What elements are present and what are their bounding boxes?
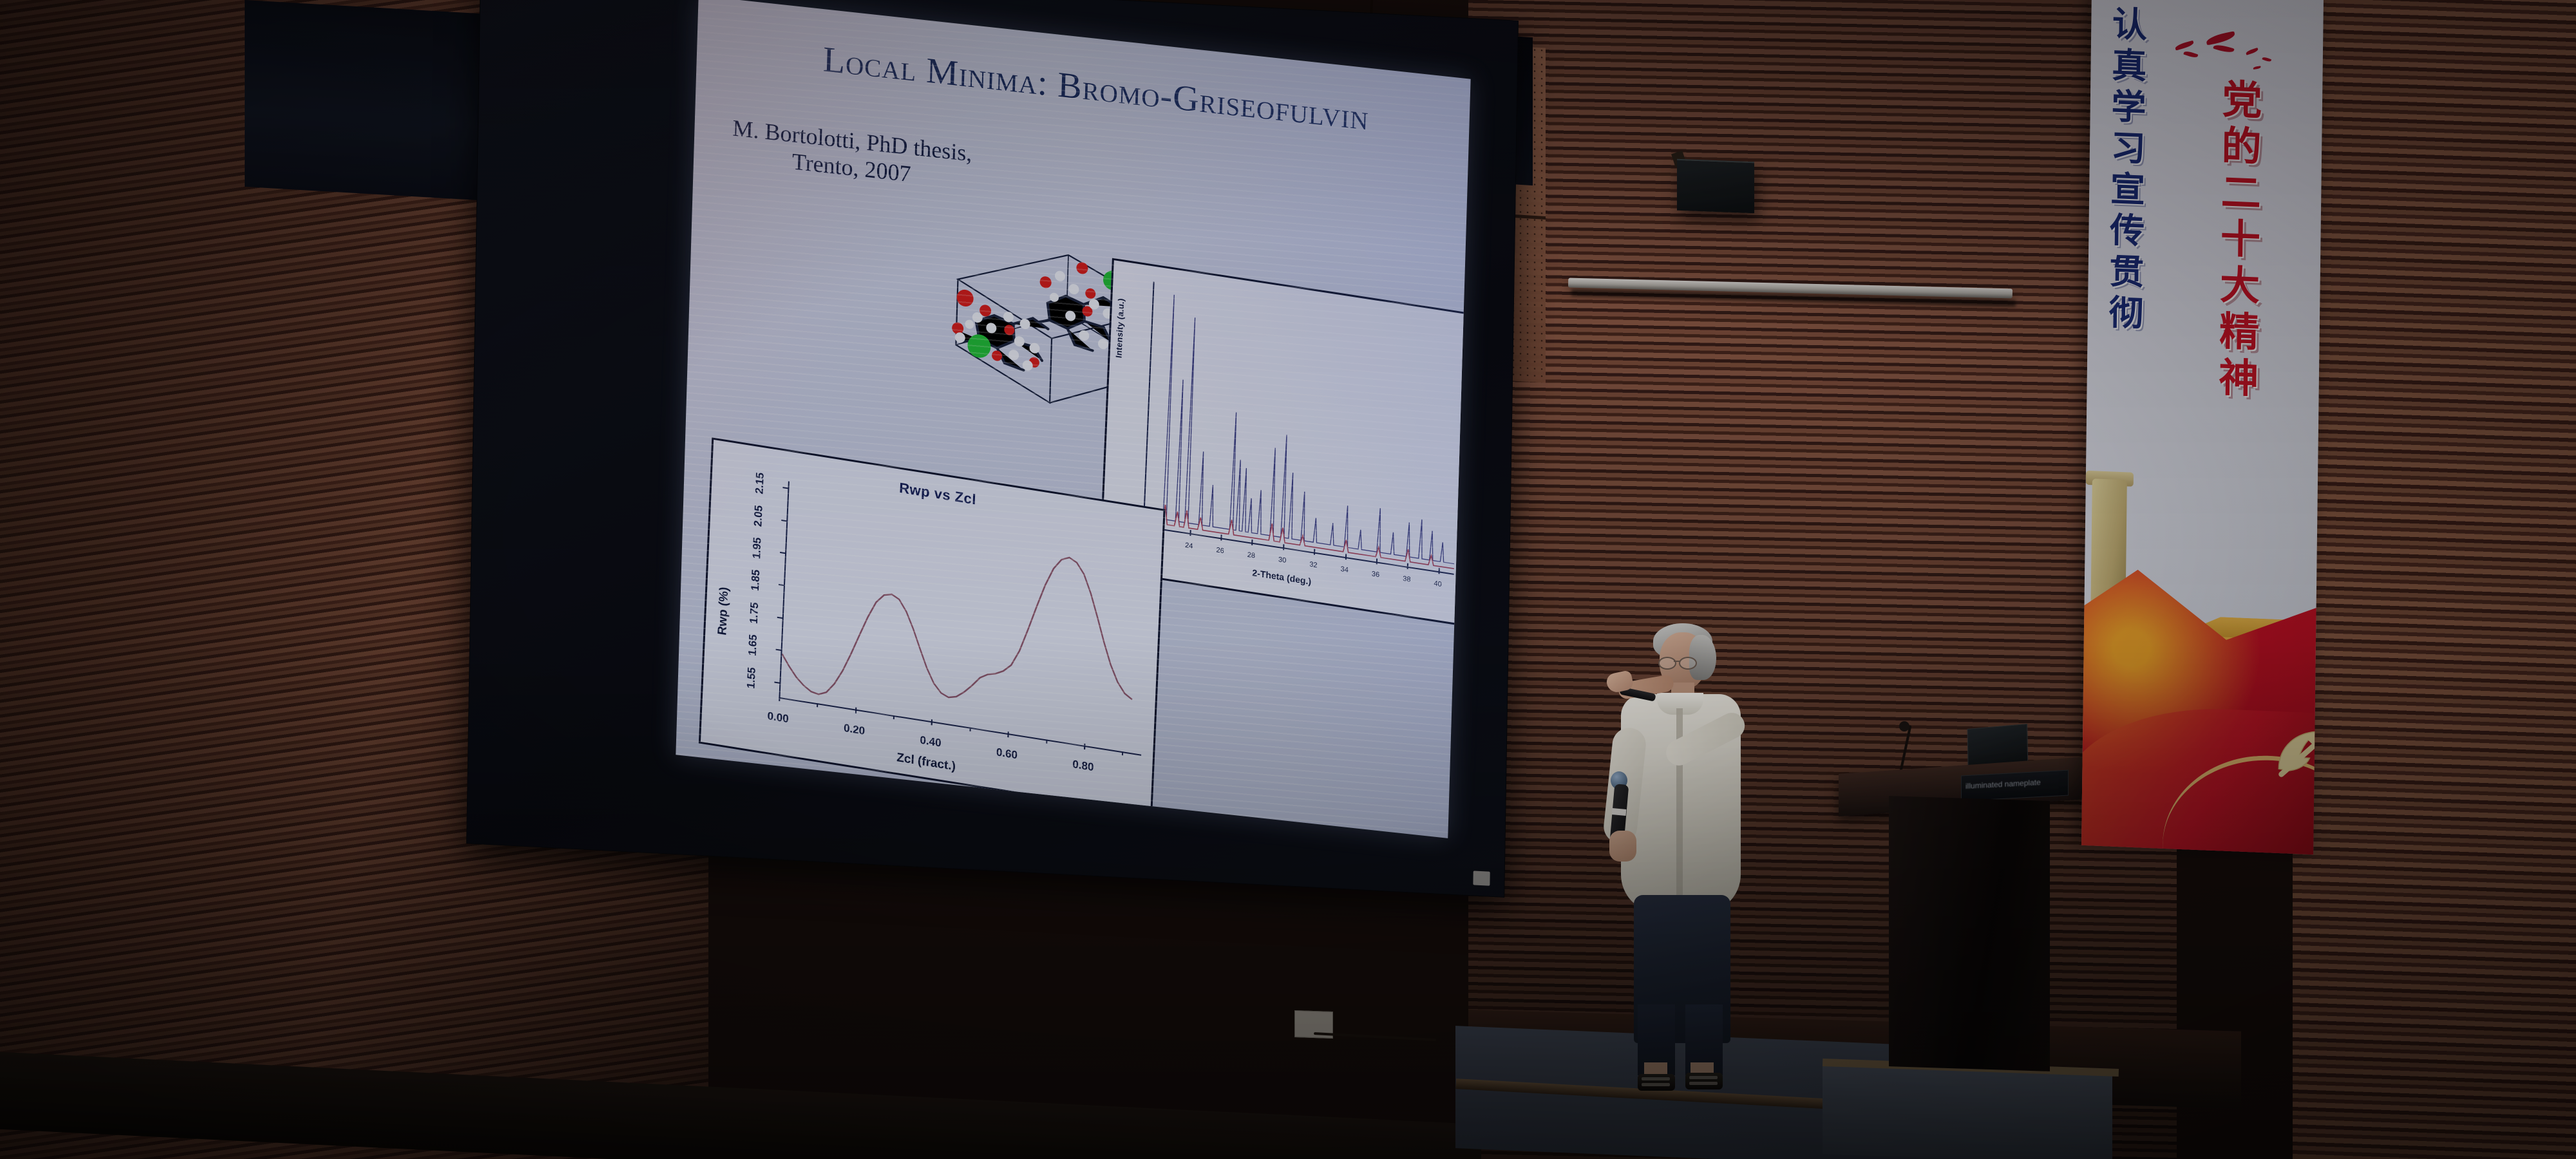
microphone-head-icon [1899,721,1909,731]
projected-slide: Local Minima: Bromo-Griseofulvin M. Bort… [676,0,1470,838]
wall-speaker [1677,159,1754,214]
sandal-strap [1689,1082,1718,1085]
hydrogen-atom [1055,270,1065,282]
lectern-body [1889,796,2050,1071]
lecture-hall-scene: Local Minima: Bromo-Griseofulvin M. Bort… [0,0,2576,1159]
presenter-glasses [1658,657,1700,667]
rwp-x-minor-tick [1084,746,1085,749]
xrd-x-tick-mark [1314,549,1315,555]
oxygen-atom [1085,288,1095,299]
xrd-x-tick-label: 32 [1309,561,1318,570]
rwp-x-minor-tick [893,715,895,719]
presenter [1581,618,1774,1088]
rwp-y-tick-mark [780,552,786,554]
sandal-strap [1642,1077,1670,1080]
rwp-y-tick-label: 2.15 [753,472,766,495]
rwp-x-tick-label: 0.00 [767,710,789,726]
rwp-x-tick-label: 0.40 [920,734,942,750]
stage-step [1823,1064,2112,1159]
rwp-y-tick-mark [774,681,780,683]
rwp-x-minor-tick [931,721,933,725]
dove-icon [2183,50,2198,59]
rwp-y-axis-label: Rwp (%) [715,586,732,636]
rwp-y-tick-mark [777,617,783,619]
presenter-right-sandal [1685,1073,1723,1089]
lectern: illuminated nameplate [1832,708,2103,1069]
rwp-vs-zcl-plot: Rwp vs Zcl Rwp (%) 1.551.651.751.851.952… [699,437,1166,815]
xrd-x-tick-label: 38 [1403,575,1411,584]
xrd-y-axis-label: Intensity (a.u.) [1113,241,1128,359]
microphone-band [1612,808,1627,816]
sandal-strap [1689,1076,1718,1079]
glasses-lens-left [1658,657,1676,670]
hydrogen-atom [1068,283,1079,295]
rwp-y-tick-mark [779,584,784,586]
rwp-x-minor-tick [817,703,818,707]
rwp-y-tick-label: 1.65 [746,634,760,657]
rwp-x-tick-mark [779,695,780,701]
dove-icon [2262,56,2271,62]
screen-brand-logo [1473,871,1490,885]
propaganda-banner: 认真学习宣传贯彻 党的二十大精神 [2081,0,2324,854]
rwp-y-tick-label: 1.75 [748,601,761,625]
rwp-x-minor-tick [1046,739,1047,743]
banner-red-text: 党的二十大精神 [2213,78,2259,404]
presenter-mic-hand [1609,831,1636,862]
xrd-x-tick-mark [1189,530,1191,536]
dove-icon [2174,41,2194,51]
presenter-left-sandal [1638,1074,1675,1091]
xrd-x-tick-mark [1407,563,1408,569]
rwp-y-tick-label: 1.55 [744,666,758,690]
xrd-series-svg [1144,282,1464,574]
xrd-x-tick-mark [1438,568,1439,574]
far-right-slat-wall [2293,0,2576,1159]
rwp-y-tick-mark [781,520,787,522]
rwp-y-tick-label: 1.85 [749,569,762,592]
oxygen-atom [1039,276,1052,288]
xrd-x-tick-mark [1376,558,1378,564]
xrd-x-tick-mark [1345,554,1346,560]
xrd-observed-trace [1144,292,1464,564]
sandal-strap [1642,1083,1670,1086]
rwp-y-tick-mark [776,649,782,651]
rwp-curve [781,513,1138,744]
xrd-x-tick-label: 30 [1278,556,1287,565]
xrd-x-tick-mark [1252,540,1253,545]
gooseneck-microphone [1900,725,1912,771]
xrd-x-tick-label: 28 [1247,551,1256,560]
slide-credit: M. Bortolotti, PhD thesis, Trento, 2007 [713,112,991,196]
xrd-x-tick-label: 24 [1185,542,1193,551]
xrd-plot-area [1143,282,1464,575]
oxygen-atom [956,289,974,308]
rwp-y-tick-label: 1.95 [750,536,764,560]
glasses-bridge [1674,661,1680,662]
hydrogen-atom [965,319,974,330]
dove-icon [2213,43,2234,55]
lectern-nameplate-text: illuminated nameplate [1965,777,2065,791]
projection-screen: Local Minima: Bromo-Griseofulvin M. Bort… [466,0,1519,898]
dove-icon [2246,48,2259,55]
rwp-x-minor-tick [855,709,857,713]
xrd-x-tick-label: 34 [1340,565,1349,574]
xrd-x-tick-mark [1220,534,1222,540]
oxygen-atom [1076,261,1088,274]
rwp-y-tick-label: 2.05 [752,504,765,527]
xrd-x-tick-label: 26 [1216,546,1224,555]
hydrogen-atom [1098,338,1108,350]
rwp-y-tick-mark [782,487,788,489]
glasses-lens-right [1679,657,1697,670]
dove-icon [2253,66,2260,70]
rwp-x-minor-tick [969,728,971,731]
rwp-x-minor-tick [1008,733,1009,737]
rwp-x-tick-label: 0.20 [844,722,866,738]
xrd-x-tick-mark [1283,544,1284,550]
banner-blue-text: 认真学习宣传贯彻 [2105,5,2145,336]
dove-icon [2205,31,2236,45]
rwp-x-tick-label: 0.80 [1072,758,1094,774]
xrd-x-tick-label: 40 [1434,579,1442,589]
rwp-x-tick-label: 0.60 [996,746,1018,762]
rwp-x-minor-tick [1122,751,1123,755]
xrd-x-tick-label: 36 [1372,570,1380,579]
